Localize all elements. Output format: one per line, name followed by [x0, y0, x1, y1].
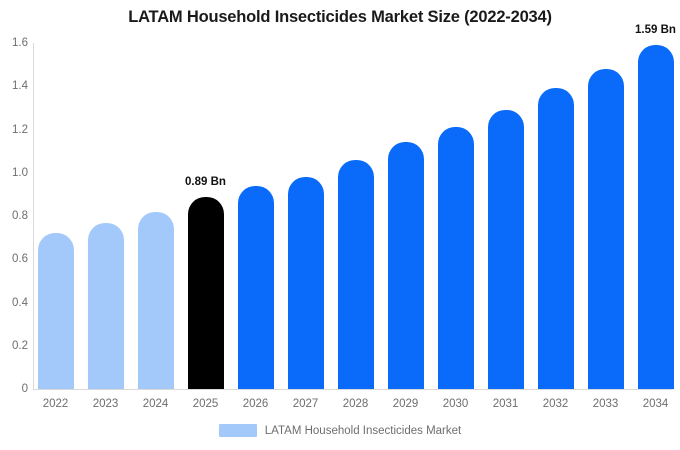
bar-2025[interactable] — [188, 197, 224, 389]
y-axis-tick-1.6: 1.6 — [0, 37, 28, 49]
plot-area — [33, 43, 673, 389]
bar-2022[interactable] — [38, 233, 74, 389]
x-axis-tick-2026: 2026 — [243, 398, 269, 410]
legend-swatch-icon — [219, 424, 257, 437]
bar-2028[interactable] — [338, 160, 374, 389]
x-axis-tick-2027: 2027 — [293, 398, 319, 410]
x-axis-tick-2031: 2031 — [493, 398, 519, 410]
bar-2031[interactable] — [488, 110, 524, 389]
bar-2030[interactable] — [438, 127, 474, 389]
x-axis-tick-2023: 2023 — [93, 398, 119, 410]
x-axis-tick-2030: 2030 — [443, 398, 469, 410]
y-axis-tick-0.4: 0.4 — [0, 297, 28, 309]
bar-value-label-2025: 0.89 Bn — [185, 176, 226, 188]
legend-item-latam-household-insecticides-market[interactable]: LATAM Household Insecticides Market — [219, 424, 461, 437]
legend-label: LATAM Household Insecticides Market — [265, 425, 461, 437]
bar-2024[interactable] — [138, 212, 174, 389]
x-axis-tick-2025: 2025 — [193, 398, 219, 410]
y-axis-tick-1.0: 1.0 — [0, 167, 28, 179]
x-axis-tick-2028: 2028 — [343, 398, 369, 410]
chart-legend: LATAM Household Insecticides Market — [0, 424, 680, 437]
bar-2023[interactable] — [88, 223, 124, 390]
chart-container: LATAM Household Insecticides Market Size… — [0, 0, 680, 450]
y-axis-tick-1.2: 1.2 — [0, 124, 28, 136]
x-axis-tick-2034: 2034 — [643, 398, 669, 410]
x-axis-tick-2032: 2032 — [543, 398, 569, 410]
x-axis-tick-2033: 2033 — [593, 398, 619, 410]
y-axis-tick-0.6: 0.6 — [0, 253, 28, 265]
bar-2026[interactable] — [238, 186, 274, 389]
bar-2034[interactable] — [638, 45, 674, 389]
y-axis-tick-0.8: 0.8 — [0, 210, 28, 222]
y-axis-tick-0.2: 0.2 — [0, 340, 28, 352]
bar-value-label-2034: 1.59 Bn — [635, 24, 676, 36]
x-axis-tick-2024: 2024 — [143, 398, 169, 410]
x-axis-tick-2022: 2022 — [43, 398, 69, 410]
x-axis-line — [33, 389, 673, 390]
x-axis-tick-2029: 2029 — [393, 398, 419, 410]
bar-2032[interactable] — [538, 88, 574, 389]
y-axis-tick-0: 0 — [0, 383, 28, 395]
y-axis-tick-1.4: 1.4 — [0, 80, 28, 92]
bar-2029[interactable] — [388, 142, 424, 389]
bar-2027[interactable] — [288, 177, 324, 389]
bar-2033[interactable] — [588, 69, 624, 389]
chart-title: LATAM Household Insecticides Market Size… — [0, 8, 680, 27]
